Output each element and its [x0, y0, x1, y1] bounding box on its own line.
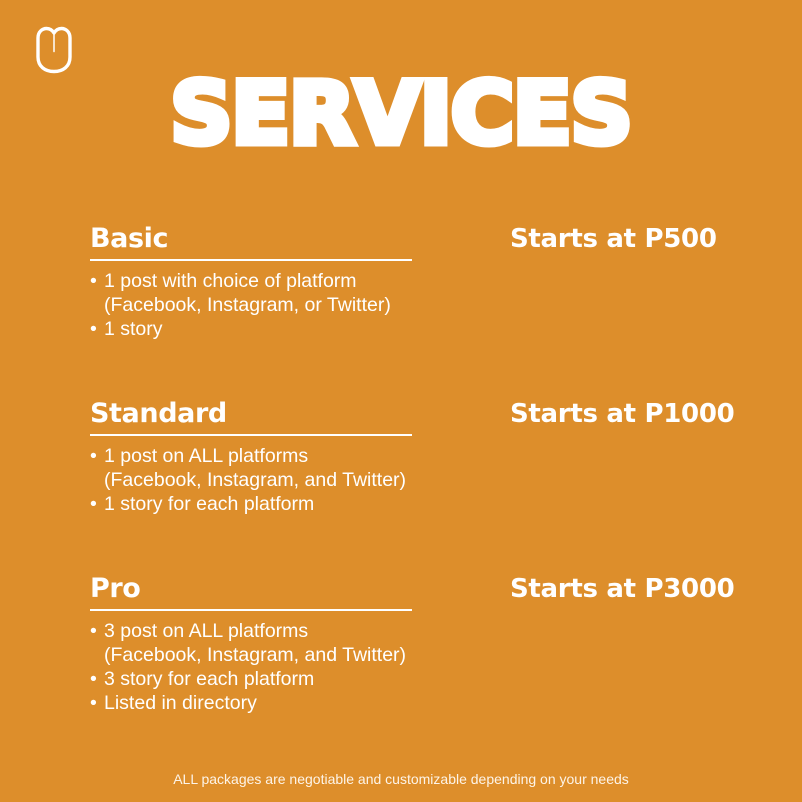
- package-price: Starts at P500: [510, 222, 717, 256]
- feature-text: 1 story: [104, 318, 163, 340]
- footnote: ALL packages are negotiable and customiz…: [0, 770, 802, 788]
- package-details: Standard •1 post on ALL platforms (Faceb…: [90, 397, 415, 516]
- package-details: Pro •3 post on ALL platforms (Facebook, …: [90, 572, 415, 715]
- feature-text: Listed in directory: [104, 692, 257, 714]
- package-price: Starts at P1000: [510, 397, 734, 431]
- feature-text: 3 post on ALL platforms: [104, 620, 308, 642]
- bullet-icon: •: [90, 269, 104, 293]
- package-feature-list: •3 post on ALL platforms (Facebook, Inst…: [90, 619, 415, 715]
- bullet-icon: •: [90, 444, 104, 468]
- package-divider: [90, 434, 412, 436]
- package-name: Standard: [90, 397, 415, 431]
- package-feature-list: •1 post on ALL platforms (Facebook, Inst…: [90, 444, 415, 516]
- feature-text: 1 story for each platform: [104, 493, 314, 515]
- list-item: •1 post with choice of platform (Faceboo…: [90, 269, 415, 317]
- list-item: •Listed in directory: [90, 691, 415, 715]
- package-divider: [90, 259, 412, 261]
- feature-text: 1 post on ALL platforms: [104, 445, 308, 467]
- list-item: •1 story for each platform: [90, 492, 415, 516]
- packages-list: Basic •1 post with choice of platform (F…: [0, 222, 802, 747]
- package-card-basic: Basic •1 post with choice of platform (F…: [0, 222, 802, 397]
- services-pricing-poster: SERVICES Basic •1 post with choice of pl…: [0, 0, 802, 802]
- bullet-icon: •: [90, 619, 104, 643]
- feature-text: 3 story for each platform: [104, 668, 314, 690]
- list-item: •3 story for each platform: [90, 667, 415, 691]
- package-card-standard: Standard •1 post on ALL platforms (Faceb…: [0, 397, 802, 572]
- page-title: SERVICES: [0, 66, 802, 162]
- bullet-icon: •: [90, 691, 104, 715]
- package-name: Basic: [90, 222, 415, 256]
- package-divider: [90, 609, 412, 611]
- package-price: Starts at P3000: [510, 572, 734, 606]
- feature-text: 1 post with choice of platform: [104, 270, 357, 292]
- package-feature-list: •1 post with choice of platform (Faceboo…: [90, 269, 415, 341]
- bullet-icon: •: [90, 667, 104, 691]
- feature-text-continuation: (Facebook, Instagram, and Twitter): [104, 644, 406, 666]
- list-item: •1 story: [90, 317, 415, 341]
- bullet-icon: •: [90, 317, 104, 341]
- list-item: •3 post on ALL platforms (Facebook, Inst…: [90, 619, 415, 667]
- package-card-pro: Pro •3 post on ALL platforms (Facebook, …: [0, 572, 802, 747]
- package-details: Basic •1 post with choice of platform (F…: [90, 222, 415, 341]
- feature-text-continuation: (Facebook, Instagram, or Twitter): [104, 294, 391, 316]
- feature-text-continuation: (Facebook, Instagram, and Twitter): [104, 469, 406, 491]
- list-item: •1 post on ALL platforms (Facebook, Inst…: [90, 444, 415, 492]
- package-name: Pro: [90, 572, 415, 606]
- bullet-icon: •: [90, 492, 104, 516]
